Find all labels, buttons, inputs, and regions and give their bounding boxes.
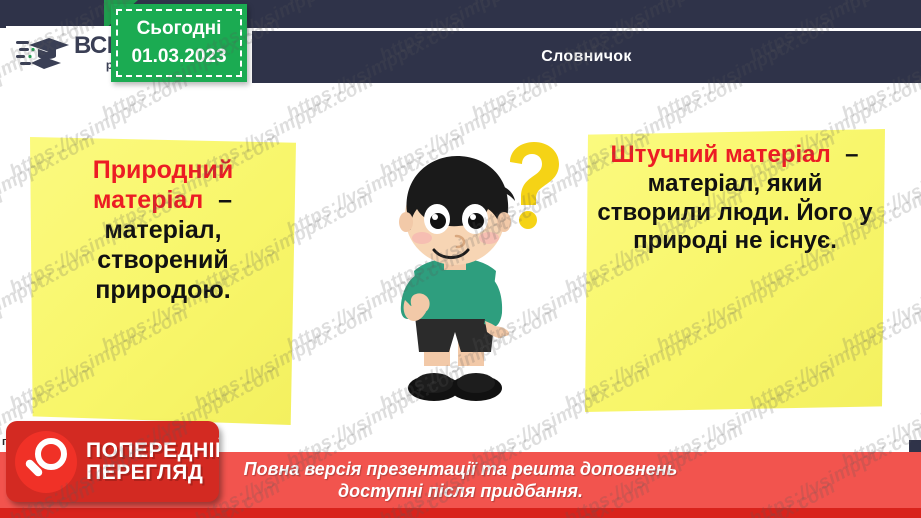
question-mark-icon (510, 142, 559, 229)
note-term-artificial: Штучний матеріал (611, 141, 831, 168)
preview-badge-line-1: ПОПЕРЕДНІЙ (86, 440, 219, 461)
date-badge: Сьогодні 01.03.2023 (111, 4, 247, 82)
magnifier-icon (15, 431, 77, 493)
page-title: Словничок (541, 48, 631, 66)
thinking-boy-illustration (352, 140, 567, 430)
watermark-text: https://vsimpptx.com (0, 71, 8, 184)
graduation-cap-icon (16, 36, 72, 70)
bottom-dark-red-strip (0, 508, 921, 518)
slide-title-bar: Словничок (252, 31, 921, 83)
preview-badge[interactable]: ПОПЕРЕДНІЙ ПЕРЕГЛЯД (6, 421, 219, 502)
sticky-note-natural-material: Природний матеріал – матеріал, створений… (30, 137, 296, 425)
banner-line-2: доступні після придбання. (244, 480, 678, 503)
note-definition-artificial: матеріал, який створили люди. Його у при… (597, 170, 872, 255)
watermark-text: https://vsimpptx.com (0, 187, 8, 300)
banner-line-1: Повна версія презентації та решта доповн… (244, 458, 678, 481)
slide-canvas: ВСІМ pptx Сьогодні 01.03.2023 Словничок … (0, 0, 921, 518)
watermark-text: https://vsimpptx.com (0, 303, 8, 416)
note-definition-natural: матеріал, створений природою. (95, 216, 230, 304)
note-dash-natural: – (218, 186, 233, 214)
preview-badge-line-2: ПЕРЕГЛЯД (86, 462, 219, 483)
date-badge-label: Сьогодні (137, 15, 222, 43)
date-badge-value: 01.03.2023 (131, 43, 226, 71)
note-dash-artificial: – (845, 141, 859, 168)
sticky-note-artificial-material: Штучний матеріал – матеріал, який створи… (585, 129, 885, 412)
